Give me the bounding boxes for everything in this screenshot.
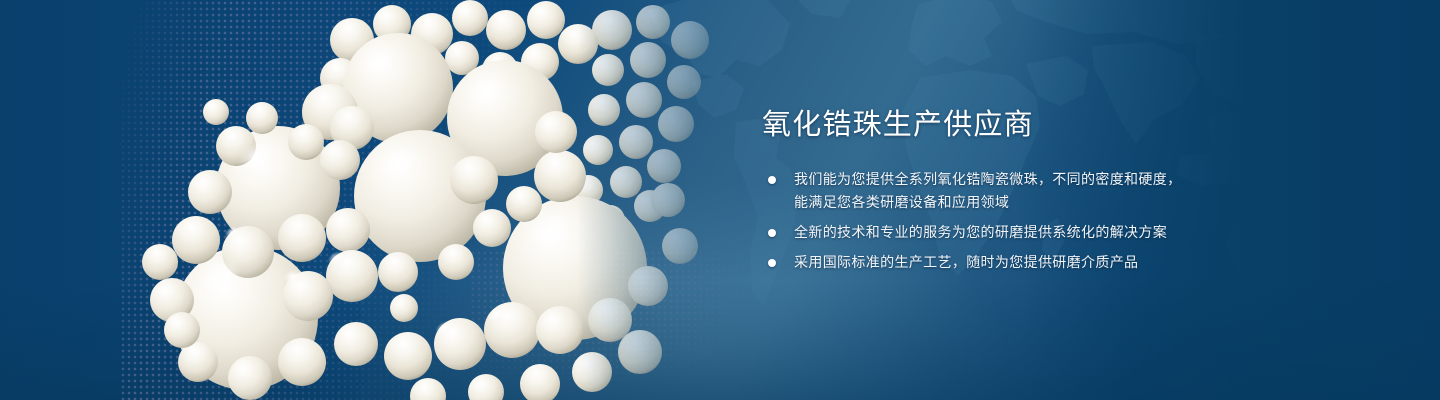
bullet-text-line: 全新的技术和专业的服务为您的研磨提供系统化的解决方案 [794,221,1232,244]
list-item: 全新的技术和专业的服务为您的研磨提供系统化的解决方案 [762,221,1232,244]
bullet-dot-icon [768,229,776,237]
bullet-text-line: 能满足您各类研磨设备和应用领域 [794,191,1232,214]
page-title: 氧化锆珠生产供应商 [762,108,1232,142]
list-item: 采用国际标准的生产工艺，随时为您提供研磨介质产品 [762,251,1232,274]
bullet-dot-icon [768,176,776,184]
bullet-dot-icon [768,259,776,267]
bullet-text-line: 我们能为您提供全系列氧化锆陶瓷微珠，不同的密度和硬度， [794,168,1232,191]
banner-copy-block: 氧化锆珠生产供应商 我们能为您提供全系列氧化锆陶瓷微珠，不同的密度和硬度， 能满… [762,108,1232,274]
bullet-text-line: 采用国际标准的生产工艺，随时为您提供研磨介质产品 [794,251,1232,274]
hero-banner: 氧化锆珠生产供应商 我们能为您提供全系列氧化锆陶瓷微珠，不同的密度和硬度， 能满… [0,0,1440,400]
feature-bullet-list: 我们能为您提供全系列氧化锆陶瓷微珠，不同的密度和硬度， 能满足您各类研磨设备和应… [762,168,1232,274]
list-item: 我们能为您提供全系列氧化锆陶瓷微珠，不同的密度和硬度， 能满足您各类研磨设备和应… [762,168,1232,214]
